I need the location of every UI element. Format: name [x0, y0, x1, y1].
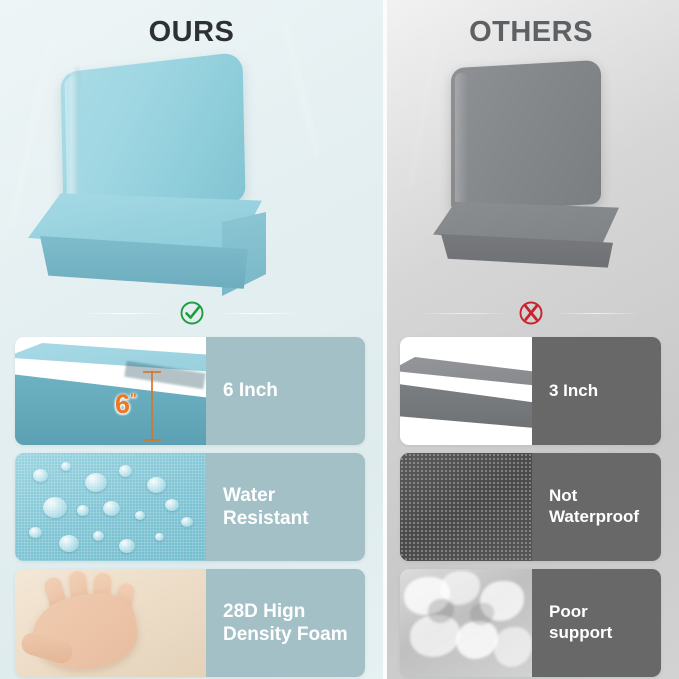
fiber-shadow	[470, 603, 494, 625]
green-check-circle-icon	[178, 299, 206, 327]
divider-line	[216, 313, 302, 314]
feature-cards-others: 3 Inch NotWaterproof	[383, 337, 679, 679]
feature-label: Poorsupport	[532, 569, 661, 677]
water-droplet	[147, 477, 166, 493]
thickness-callout-unit: "	[130, 390, 137, 406]
water-droplet	[93, 531, 104, 541]
water-droplet	[61, 462, 71, 471]
dimension-cap-bottom	[143, 439, 161, 441]
divider-line	[555, 313, 641, 314]
column-divider	[383, 0, 387, 679]
dimension-cap-top	[143, 371, 161, 373]
feature-cards-ours: 6" 6 Inch	[0, 337, 383, 679]
palm	[28, 587, 142, 676]
heading-others: OTHERS	[383, 16, 679, 49]
thickness-photo: 6"	[15, 337, 206, 445]
dimension-line	[151, 371, 153, 441]
hero-others	[383, 50, 679, 300]
cushion-back-seam	[70, 66, 80, 215]
thickness-callout: 6"	[115, 389, 137, 420]
water-droplet	[103, 501, 120, 516]
loose-fiber-fill-photo	[400, 569, 532, 677]
water-droplet	[59, 535, 79, 552]
water-droplet	[77, 505, 89, 516]
cushion-slab-face	[400, 381, 532, 429]
water-droplet	[155, 533, 164, 541]
badge-row-others	[383, 296, 679, 330]
cushion-back-gray	[451, 60, 601, 212]
thin-slab-photo	[400, 337, 532, 445]
fiber-tuft	[456, 621, 498, 659]
feature-label: NotWaterproof	[532, 453, 661, 561]
fiber-tuft	[494, 627, 532, 667]
heading-ours: OURS	[0, 16, 383, 49]
comparison-board: OURS	[0, 0, 679, 679]
water-droplet	[119, 465, 132, 477]
water-droplet	[43, 497, 67, 518]
feature-card: WaterResistant	[15, 453, 365, 561]
feature-label: WaterResistant	[206, 453, 365, 561]
badge-row-ours	[0, 296, 383, 330]
feature-card: 28D HignDensity Foam	[15, 569, 365, 677]
hand-pressing-foam-photo	[15, 569, 206, 677]
hero-ours	[0, 50, 383, 300]
water-droplet	[165, 499, 179, 511]
feature-label: 28D HignDensity Foam	[206, 569, 365, 677]
water-droplet	[119, 539, 135, 553]
thickness-callout-value: 6	[115, 389, 130, 419]
column-ours: OURS	[0, 0, 383, 679]
red-cross-circle-icon	[517, 299, 545, 327]
water-droplets-photo	[15, 453, 206, 561]
water-droplet	[29, 527, 42, 538]
divider-line	[82, 313, 168, 314]
mesh-fabric-photo	[400, 453, 532, 561]
feature-card: Poorsupport	[400, 569, 661, 677]
water-droplet	[135, 511, 145, 520]
feature-label: 6 Inch	[206, 337, 365, 445]
divider-line	[421, 313, 507, 314]
feature-card: 6" 6 Inch	[15, 337, 365, 445]
water-droplet	[85, 473, 107, 492]
feature-card: NotWaterproof	[400, 453, 661, 561]
column-others: OTHERS 3 Inch	[383, 0, 679, 679]
water-droplet	[33, 469, 48, 482]
feature-label: 3 Inch	[532, 337, 661, 445]
mesh-texture	[400, 453, 532, 561]
feature-card: 3 Inch	[400, 337, 661, 445]
water-droplet	[181, 517, 193, 527]
